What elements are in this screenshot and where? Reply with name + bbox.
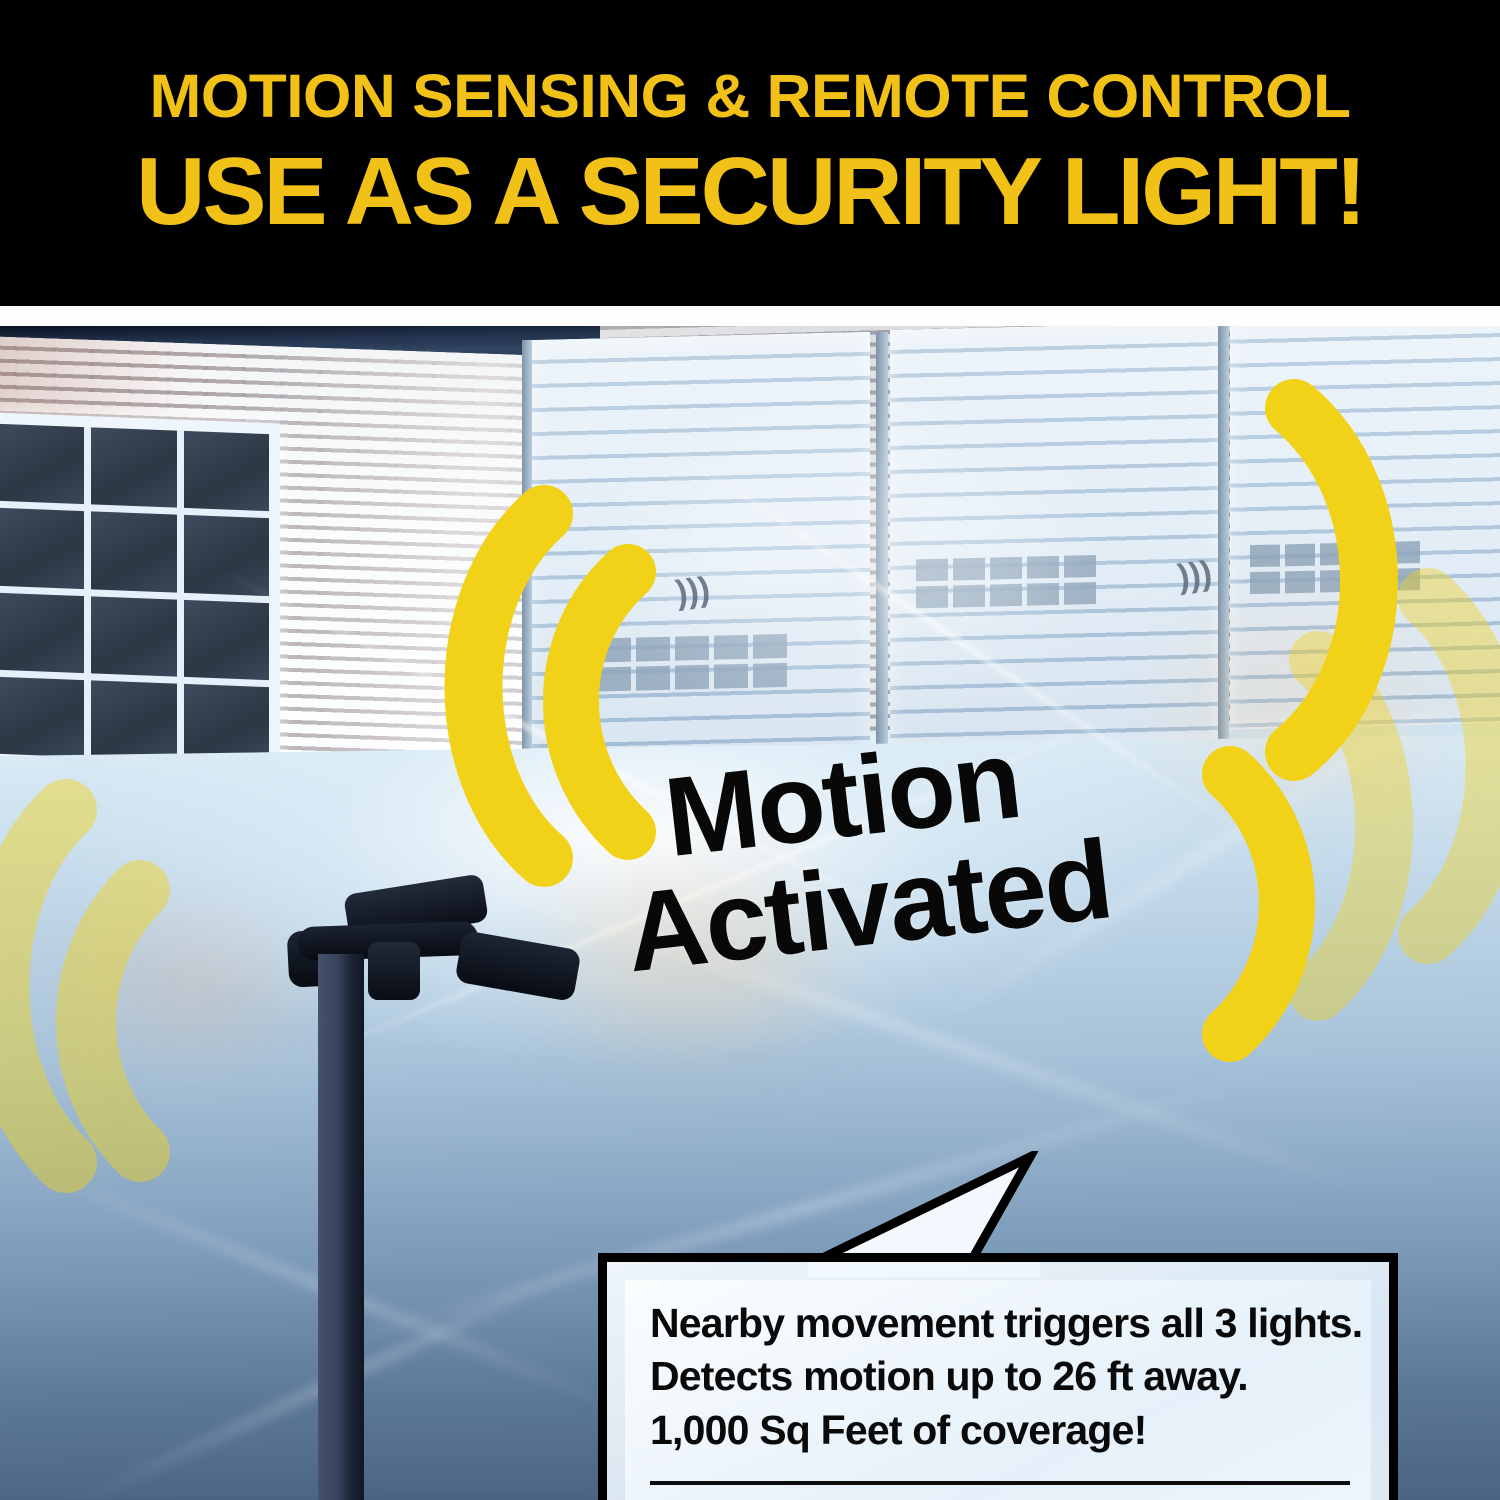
- banner-headline-secondary: USE AS A SECURITY LIGHT!: [0, 144, 1500, 240]
- banner-divider: [0, 306, 1500, 326]
- window-pane: [0, 508, 84, 589]
- banner-headline-primary: MOTION SENSING & REMOTE CONTROL: [0, 66, 1500, 127]
- window-pane: [0, 424, 84, 505]
- window-pane: [91, 596, 176, 677]
- mounting-pole: [318, 954, 364, 1500]
- motion-wave-left-inner: [510, 536, 660, 866]
- window-pane: [184, 599, 269, 680]
- window-pane: [0, 592, 84, 673]
- window-pane: [0, 677, 84, 758]
- window-pane: [184, 515, 269, 596]
- spec-callout-box: Nearby movement triggers all 3 lights. D…: [598, 1253, 1398, 1500]
- lens-flare: [640, 446, 1060, 666]
- motion-squiggle-icon: ))): [1175, 554, 1214, 597]
- callout-divider: [650, 1481, 1350, 1485]
- window-pane: [184, 431, 269, 512]
- motion-wave-faded-left-inner: [28, 856, 178, 1186]
- product-feature-graphic: MOTION SENSING & REMOTE CONTROL USE AS A…: [0, 0, 1500, 1500]
- header-banner: MOTION SENSING & REMOTE CONTROL USE AS A…: [0, 0, 1500, 306]
- window-pane: [91, 427, 176, 508]
- callout-line: Nearby movement triggers all 3 lights.: [650, 1297, 1364, 1350]
- house-window: [0, 412, 280, 775]
- callout-text-body: Nearby movement triggers all 3 lights. D…: [650, 1297, 1364, 1500]
- window-pane: [91, 512, 176, 593]
- motion-squiggle-icon: ))): [673, 570, 712, 613]
- window-pane: [91, 680, 176, 761]
- callout-line: Detects motion up to 26 ft away.: [650, 1350, 1364, 1403]
- motion-sensor-module: [368, 942, 420, 1000]
- scene-photo: Motion Activated ))) ))) Nearby movement…: [0, 326, 1500, 1500]
- motion-security-light-fixture: [290, 866, 520, 1500]
- callout-line: 1,000 Sq Feet of coverage!: [650, 1404, 1364, 1457]
